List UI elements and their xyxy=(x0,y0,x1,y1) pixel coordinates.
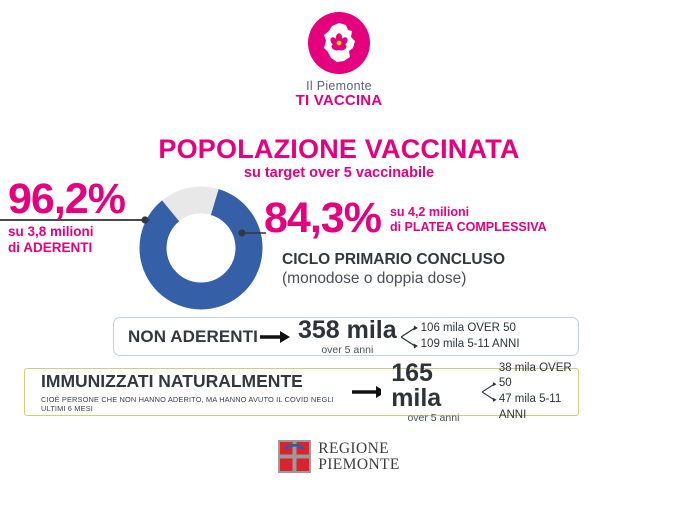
logo-text-line1: Il Piemonte xyxy=(306,79,372,93)
immunizzati-text-block: IMMUNIZZATI NATURALMENTE CIOÈ PERSONE CH… xyxy=(41,371,338,413)
immunizzati-note: CIOÈ PERSONE CHE NON HANNO ADERITO, MA H… xyxy=(41,395,338,413)
stat-left-percent: 96,2% xyxy=(8,179,143,220)
regione-piemonte-logo: REGIONE PIEMONTE xyxy=(0,440,678,473)
footer-line2: PIEMONTE xyxy=(318,457,400,473)
stat-left-note-line2: di ADERENTI xyxy=(8,240,143,256)
non-aderenti-split-1: 109 mila 5-11 ANNI xyxy=(421,337,520,353)
immunizzati-title: IMMUNIZZATI NATURALMENTE xyxy=(41,371,338,392)
immunizzati-split-1: 47 mila 5-11 ANNI xyxy=(499,392,578,423)
non-aderenti-value-sub: over 5 anni xyxy=(321,344,373,356)
stat-right-subheading: (monodose o doppia dose) xyxy=(282,270,547,288)
non-aderenti-label: NON ADERENTI xyxy=(128,327,258,347)
immunizzati-value-sub: over 5 anni xyxy=(407,412,459,424)
immunizzati-split-0: 38 mila OVER 50 xyxy=(499,361,578,392)
split-arrows-icon xyxy=(482,379,499,405)
immunizzati-value: 165 mila xyxy=(391,361,476,411)
stat-right-note: su 4,2 milioni di PLATEA COMPLESSIVA xyxy=(390,205,547,235)
non-aderenti-split: 106 mila OVER 50 109 mila 5-11 ANNI xyxy=(421,321,520,352)
stat-right-note-line2: di PLATEA COMPLESSIVA xyxy=(390,220,547,235)
page-title: POPOLAZIONE VACCINATA xyxy=(0,134,678,165)
non-aderenti-box: NON ADERENTI 358 mila over 5 anni 106 mi… xyxy=(113,317,579,356)
stat-right-percent: 84,3% xyxy=(264,198,381,239)
non-aderenti-value: 358 mila xyxy=(298,318,397,343)
logo-text-line2: TI VACCINA xyxy=(296,92,383,109)
stat-right-heading: CICLO PRIMARIO CONCLUSO xyxy=(282,251,547,269)
footer-line1: REGIONE xyxy=(318,441,400,457)
stat-right-note-line1: su 4,2 milioni xyxy=(390,205,547,220)
donut-chart xyxy=(139,186,263,310)
non-aderenti-split-0: 106 mila OVER 50 xyxy=(421,321,520,337)
stat-left: 96,2% su 3,8 milioni di ADERENTI xyxy=(8,179,143,256)
split-arrows-icon xyxy=(401,324,421,350)
arrow-right-icon xyxy=(260,329,290,345)
stat-left-note-line1: su 3,8 milioni xyxy=(8,224,143,240)
regione-piemonte-emblem-icon xyxy=(278,440,311,473)
brand-logo: Il Piemonte TI VACCINA xyxy=(0,12,678,109)
immunizzati-box: IMMUNIZZATI NATURALMENTE CIOÈ PERSONE CH… xyxy=(24,368,579,416)
piemonte-map-flower-icon xyxy=(308,12,370,74)
arrow-right-icon xyxy=(352,384,381,400)
immunizzati-split: 38 mila OVER 50 47 mila 5-11 ANNI xyxy=(499,361,578,423)
stat-right: 84,3% su 4,2 milioni di PLATEA COMPLESSI… xyxy=(264,198,547,288)
stat-left-note: su 3,8 milioni di ADERENTI xyxy=(8,224,143,256)
